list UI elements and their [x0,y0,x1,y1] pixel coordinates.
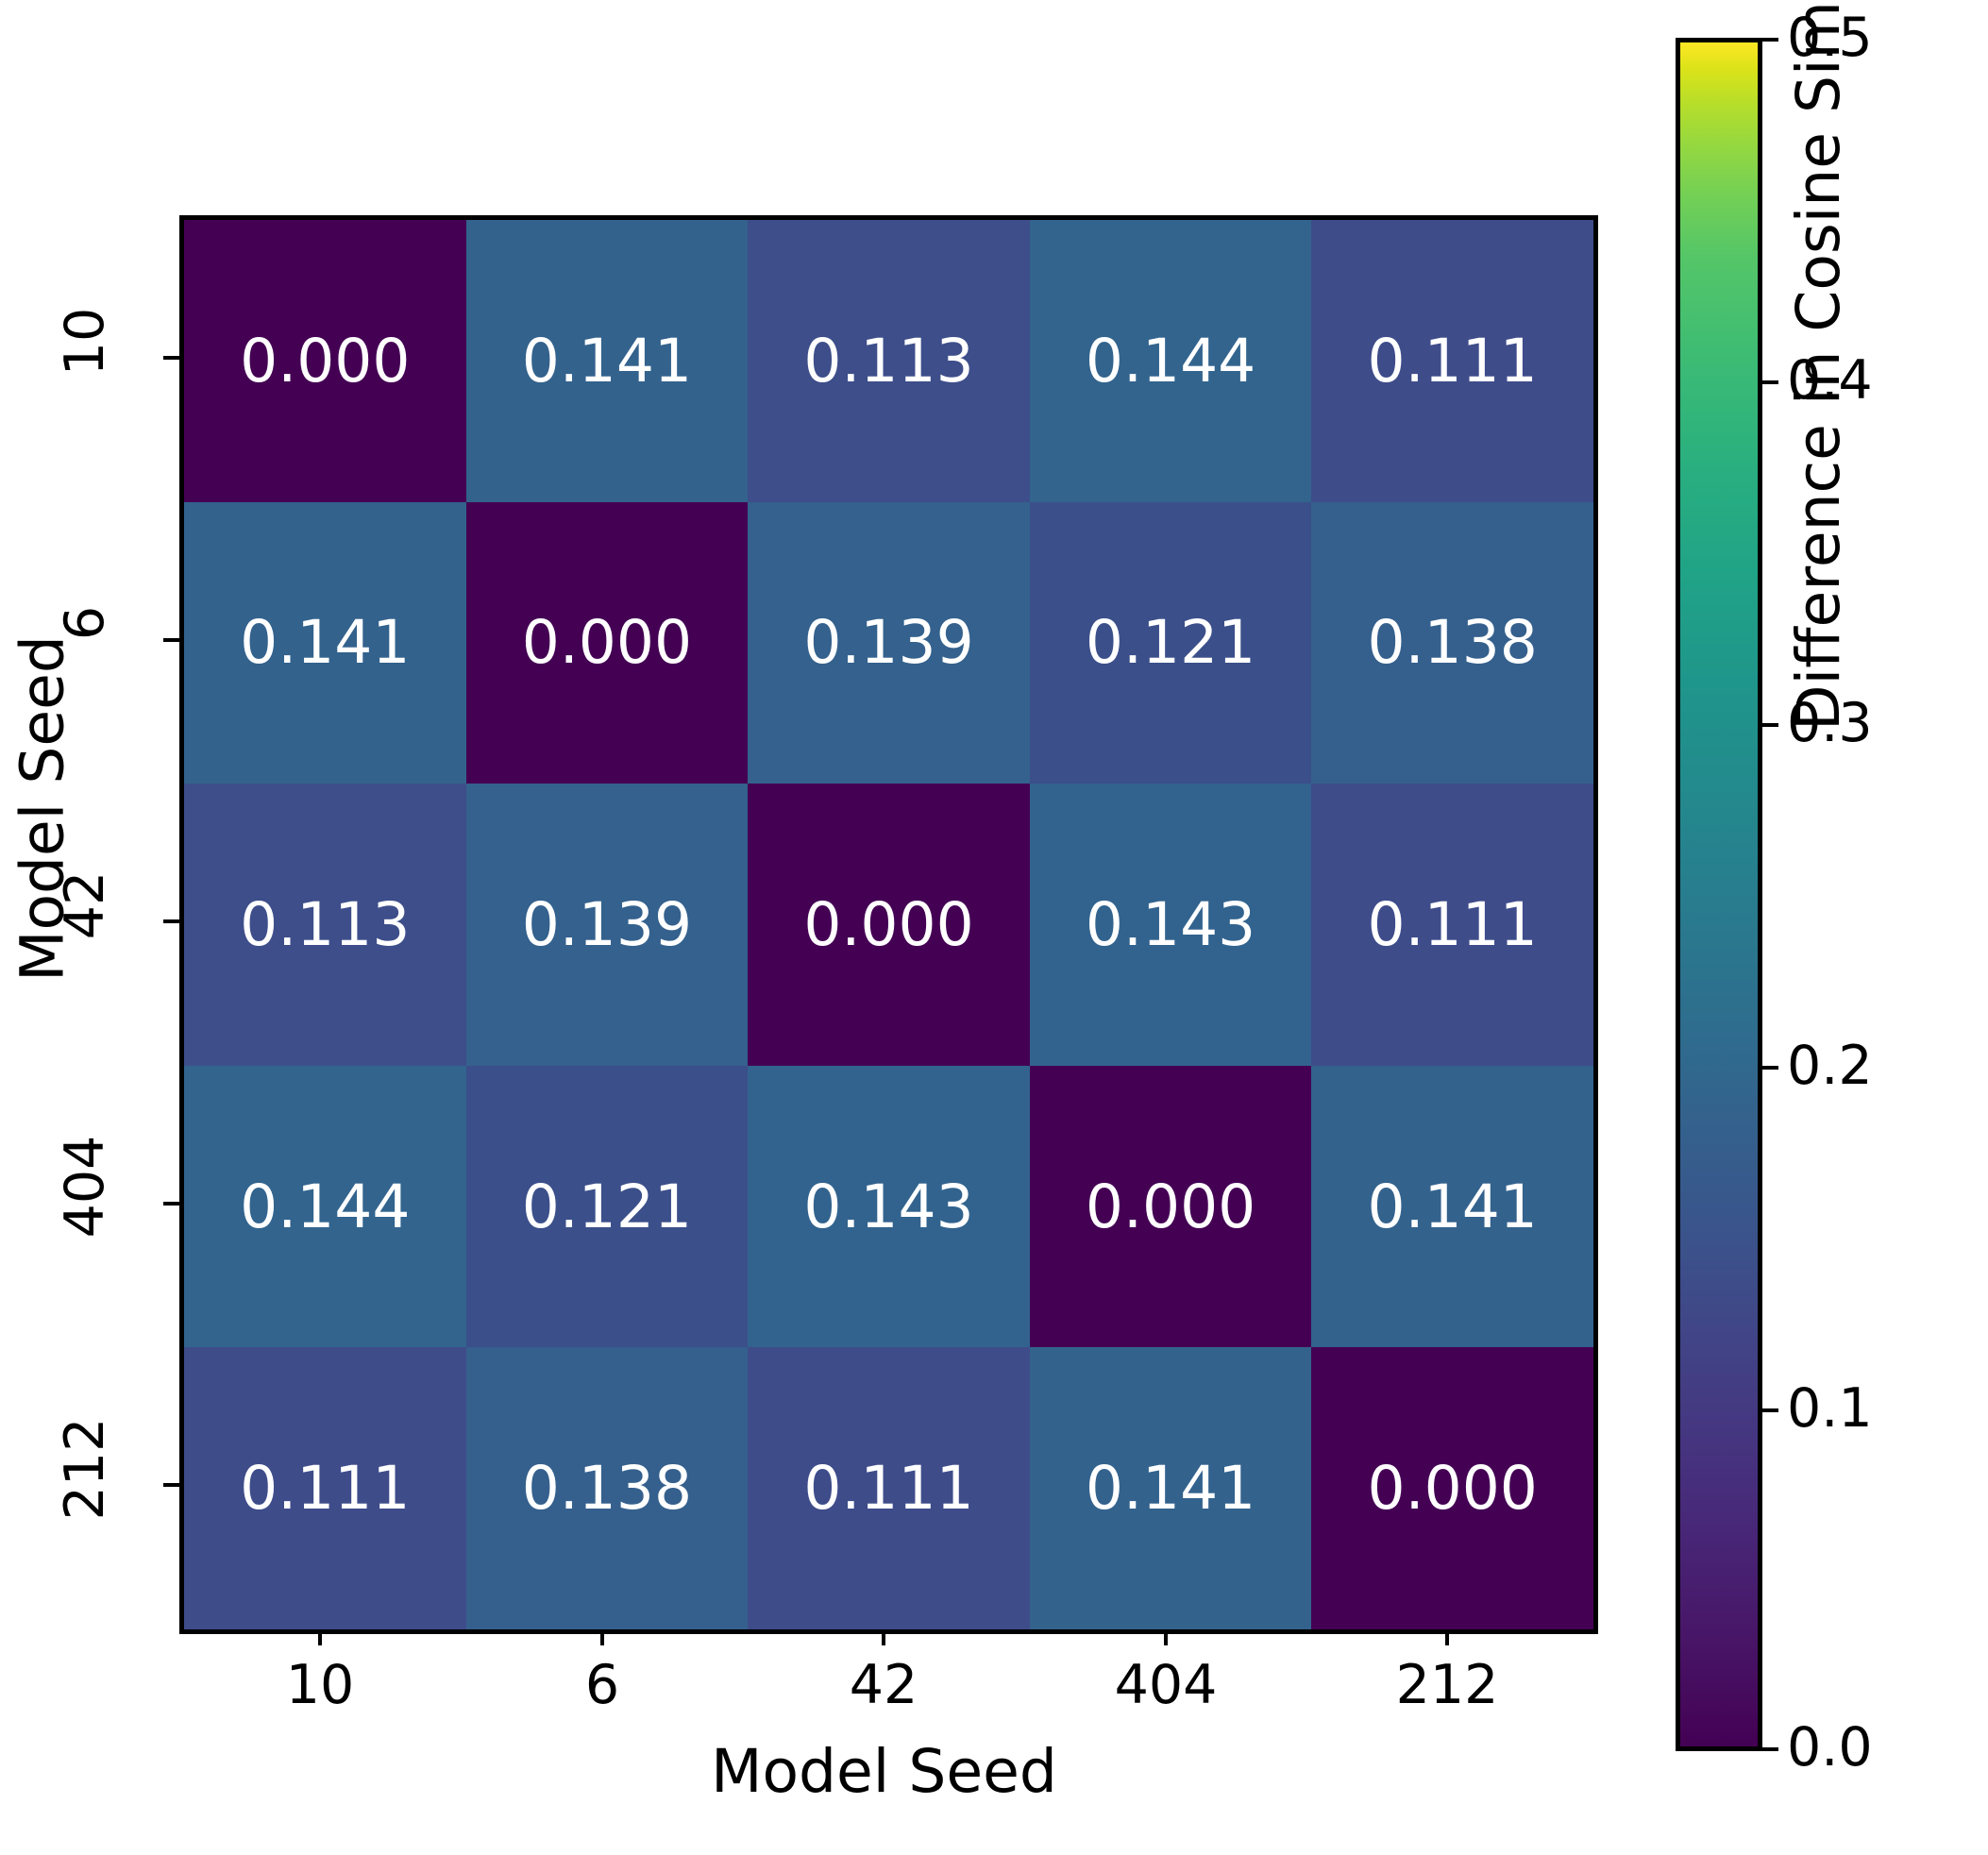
heatmap-cell[interactable]: 0.113 [184,784,466,1066]
x-tick-label-3: 404 [1024,1654,1307,1716]
x-tick-label-0: 10 [178,1654,462,1716]
heatmap-cell[interactable]: 0.141 [1311,1066,1593,1348]
cell-value: 0.141 [240,613,410,672]
colorbar-tick-label-3: 0.2 [1787,1035,1873,1097]
colorbar-gradient [1676,38,1762,1751]
cell-value: 0.000 [240,331,410,391]
y-tick-label-2: 42 [54,811,116,1000]
x-tick-mark-4 [1445,1629,1449,1645]
heatmap-cell[interactable]: 0.111 [748,1347,1030,1629]
colorbar-tick-mark-2 [1762,723,1778,727]
colorbar-tick-mark-3 [1762,1066,1778,1070]
x-tick-mark-3 [1164,1629,1168,1645]
cell-value: 0.141 [522,331,692,391]
x-tick-label-2: 42 [742,1654,1025,1716]
cell-value: 0.111 [803,1459,973,1518]
colorbar-tick-mark-5 [1762,1747,1778,1751]
heatmap-cell[interactable]: 0.000 [1030,1066,1312,1348]
colorbar-tick-mark-4 [1762,1408,1778,1412]
heatmap-cell[interactable]: 0.000 [748,784,1030,1066]
heatmap-cell[interactable]: 0.111 [1311,220,1593,502]
x-tick-mark-0 [318,1629,322,1645]
cell-value: 0.121 [522,1177,692,1237]
y-tick-label-3: 404 [54,1092,116,1281]
heatmap-cell[interactable]: 0.144 [1030,220,1312,502]
heatmap-cell[interactable]: 0.000 [184,220,466,502]
cell-value: 0.000 [1368,1459,1538,1518]
heatmap-cell[interactable]: 0.113 [748,220,1030,502]
colorbar-tick-label-4: 0.1 [1787,1377,1873,1440]
cell-value: 0.138 [1368,613,1538,672]
cell-value: 0.121 [1086,613,1255,672]
cell-value: 0.113 [803,331,973,391]
cell-value: 0.139 [803,613,973,672]
heatmap-cell[interactable]: 0.111 [1311,784,1593,1066]
cell-value: 0.144 [240,1177,410,1237]
heatmap-grid: 0.000 0.141 0.113 0.144 0.111 0.141 0.00… [179,215,1598,1634]
heatmap-cell[interactable]: 0.000 [466,502,749,784]
heatmap-cell[interactable]: 0.000 [1311,1347,1593,1629]
x-tick-mark-2 [882,1629,885,1645]
y-tick-label-0: 10 [54,247,116,436]
x-tick-label-1: 6 [461,1654,744,1716]
y-tick-mark-2 [163,919,179,923]
heatmap-cell[interactable]: 0.141 [466,220,749,502]
x-tick-label-4: 212 [1306,1654,1589,1716]
heatmap-cell[interactable]: 0.143 [748,1066,1030,1348]
y-tick-mark-0 [163,356,179,360]
heatmap-cell[interactable]: 0.138 [1311,502,1593,784]
x-tick-mark-1 [600,1629,604,1645]
colorbar-axis-label: Difference in Cosine Similarity [1784,0,1853,895]
heatmap-cell[interactable]: 0.143 [1030,784,1312,1066]
y-tick-label-1: 6 [54,529,116,717]
cell-value: 0.143 [1086,895,1255,954]
cell-value: 0.144 [1086,331,1255,391]
heatmap-cell[interactable]: 0.121 [1030,502,1312,784]
y-tick-label-4: 212 [54,1374,116,1563]
heatmap-cell[interactable]: 0.111 [184,1347,466,1629]
cell-value: 0.000 [803,895,973,954]
heatmap-cell[interactable]: 0.139 [466,784,749,1066]
heatmap-cell[interactable]: 0.141 [184,502,466,784]
cell-value: 0.138 [522,1459,692,1518]
colorbar-tick-label-5: 0.0 [1787,1716,1873,1779]
y-tick-mark-1 [163,638,179,642]
colorbar[interactable]: 0.5 0.4 0.3 0.2 0.1 0.0 [1676,38,1762,1751]
heatmap-figure: Model Seed 10 6 42 404 212 0.000 0.141 0… [0,0,1988,1855]
cell-value: 0.141 [1086,1459,1255,1518]
cell-value: 0.139 [522,895,692,954]
cell-value: 0.000 [1086,1177,1255,1237]
heatmap-cell[interactable]: 0.139 [748,502,1030,784]
y-tick-mark-3 [163,1202,179,1206]
heatmap-cell[interactable]: 0.138 [466,1347,749,1629]
colorbar-tick-mark-1 [1762,380,1778,384]
cell-value: 0.111 [1368,331,1538,391]
cell-value: 0.111 [1368,895,1538,954]
heatmap-cell[interactable]: 0.141 [1030,1347,1312,1629]
x-axis-label: Model Seed [179,1737,1589,1806]
colorbar-tick-mark-0 [1762,38,1778,42]
y-tick-mark-4 [163,1483,179,1487]
cell-value: 0.141 [1368,1177,1538,1237]
heatmap-cell[interactable]: 0.144 [184,1066,466,1348]
cell-value: 0.143 [803,1177,973,1237]
cell-value: 0.000 [522,613,692,672]
heatmap-cell[interactable]: 0.121 [466,1066,749,1348]
cell-value: 0.111 [240,1459,410,1518]
cell-value: 0.113 [240,895,410,954]
